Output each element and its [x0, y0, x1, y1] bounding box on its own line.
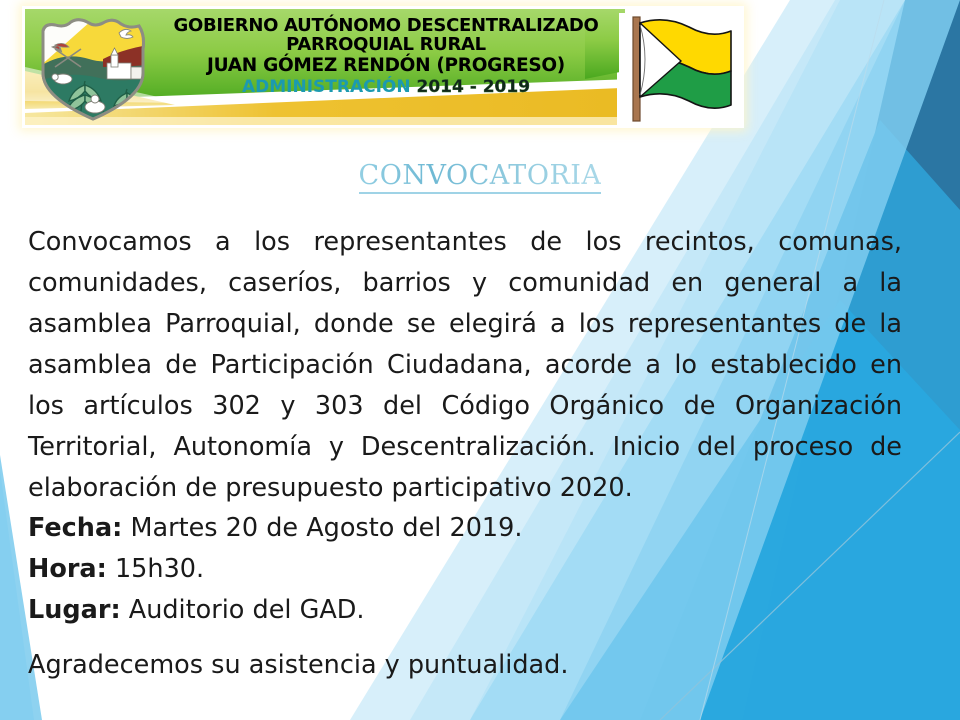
closing-text: Agradecemos su asistencia y puntualidad. — [28, 650, 568, 680]
banner-line-2: PARROQUIAL RURAL — [157, 35, 615, 54]
event-details: Fecha: Martes 20 de Agosto del 2019. Hor… — [28, 508, 828, 631]
hora-value: 15h30. — [115, 554, 204, 584]
lugar-value: Auditorio del GAD. — [129, 595, 365, 625]
detail-row-fecha: Fecha: Martes 20 de Agosto del 2019. — [28, 508, 828, 549]
coat-of-arms-crest — [33, 15, 153, 123]
fecha-value: Martes 20 de Agosto del 2019. — [130, 513, 522, 543]
announcement-paragraph: Convocamos a los representantes de los r… — [28, 222, 902, 509]
detail-row-lugar: Lugar: Auditorio del GAD. — [28, 590, 828, 631]
detail-row-hora: Hora: 15h30. — [28, 549, 828, 590]
banner-title-block: GOBIERNO AUTÓNOMO DESCENTRALIZADO PARROQ… — [157, 16, 615, 96]
page-title-text: CONVOCATORIA — [359, 160, 602, 194]
announcement-body: Convocamos a los representantes de los r… — [28, 222, 902, 509]
administration-word: ADMINISTRACIÓN — [242, 77, 411, 97]
banner-line-1: GOBIERNO AUTÓNOMO DESCENTRALIZADO — [157, 16, 615, 35]
banner-administration-line: ADMINISTRACIÓN 2014 - 2019 — [157, 78, 615, 96]
page-title: CONVOCATORIA — [0, 160, 960, 191]
parish-flag — [619, 13, 737, 125]
hora-label: Hora: — [28, 554, 107, 584]
administration-years: 2014 - 2019 — [417, 77, 531, 97]
slide-canvas: GOBIERNO AUTÓNOMO DESCENTRALIZADO PARROQ… — [0, 0, 960, 720]
banner-line-3: JUAN GÓMEZ RENDÓN (PROGRESO) — [157, 56, 615, 76]
lugar-label: Lugar: — [28, 595, 121, 625]
institutional-header-banner: GOBIERNO AUTÓNOMO DESCENTRALIZADO PARROQ… — [22, 6, 744, 128]
fecha-label: Fecha: — [28, 513, 122, 543]
closing-line: Agradecemos su asistencia y puntualidad. — [28, 645, 828, 686]
